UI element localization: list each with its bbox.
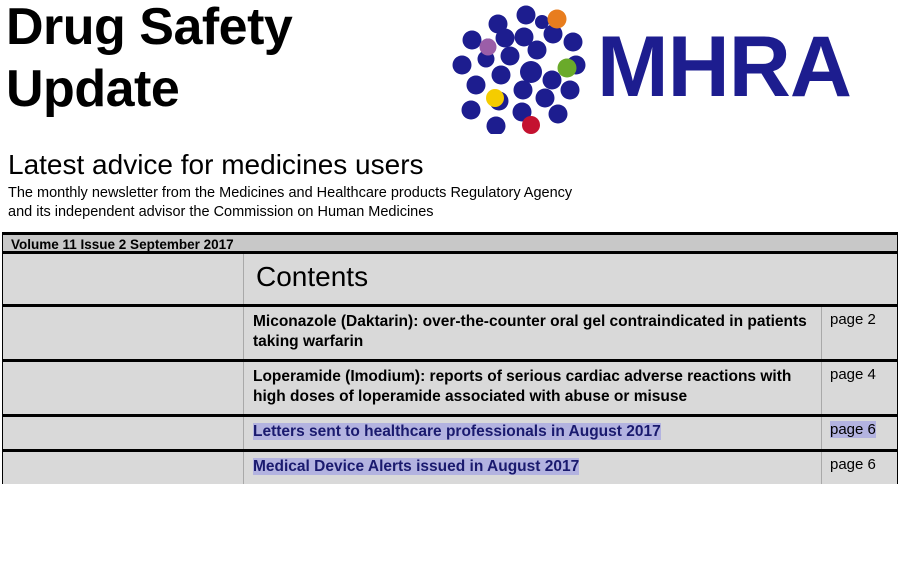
row-page-cell: page 6 <box>821 452 897 484</box>
row-left-spacer <box>3 452 244 484</box>
row-page-cell: page 4 <box>821 362 897 414</box>
masthead: Drug Safety Update Latest advice for med… <box>0 0 900 232</box>
volume-issue-label: Volume 11 Issue 2 September 2017 <box>11 236 234 253</box>
page-number-label: page 4 <box>830 366 876 383</box>
mhra-logo-dot-cluster-icon <box>452 2 597 134</box>
page-number-label: page 6 <box>830 456 876 473</box>
page-number-label: page 2 <box>830 311 876 328</box>
contents-entry-title[interactable]: Loperamide (Imodium): reports of serious… <box>253 367 813 407</box>
masthead-subtitle-line-2: and its independent advisor the Commissi… <box>8 203 708 222</box>
volume-issue-bar: Volume 11 Issue 2 September 2017 <box>2 232 898 254</box>
contents-header-right-cell <box>821 254 897 304</box>
contents-table: Contents Miconazole (Daktarin): over-the… <box>2 254 898 484</box>
row-title-cell[interactable]: Letters sent to healthcare professionals… <box>244 417 821 449</box>
table-row[interactable]: Loperamide (Imodium): reports of serious… <box>3 362 897 417</box>
row-page-cell: page 2 <box>821 307 897 359</box>
row-title-cell[interactable]: Loperamide (Imodium): reports of serious… <box>244 362 821 414</box>
logo-accent-dot-orange <box>548 10 567 29</box>
page-title-line-2: Update <box>6 58 436 120</box>
page-title-line-1: Drug Safety <box>6 0 436 58</box>
row-page-cell: page 6 <box>821 417 897 449</box>
contents-header-left-cell <box>3 254 244 304</box>
contents-heading: Contents <box>256 256 813 298</box>
table-row[interactable]: Miconazole (Daktarin): over-the-counter … <box>3 307 897 362</box>
row-title-cell[interactable]: Medical Device Alerts issued in August 2… <box>244 452 821 484</box>
row-title-cell[interactable]: Miconazole (Daktarin): over-the-counter … <box>244 307 821 359</box>
table-row[interactable]: Medical Device Alerts issued in August 2… <box>3 452 897 484</box>
contents-entry-title-text[interactable]: Letters sent to healthcare professionals… <box>253 423 661 440</box>
row-left-spacer <box>3 362 244 414</box>
row-left-spacer <box>3 417 244 449</box>
logo-accent-dot-purple <box>480 39 497 56</box>
logo-accent-dot-yellow <box>486 89 504 107</box>
contents-header-mid-cell: Contents <box>244 254 821 304</box>
contents-entry-title-text[interactable]: Medical Device Alerts issued in August 2… <box>253 458 579 475</box>
mhra-logo: MHRA <box>452 2 892 134</box>
mhra-wordmark: MHRA <box>597 12 851 122</box>
contents-entry-title[interactable]: Miconazole (Daktarin): over-the-counter … <box>253 312 813 352</box>
logo-accent-dot-green <box>558 59 577 78</box>
logo-accent-dot-red <box>522 116 540 134</box>
contents-header-row: Contents <box>3 254 897 307</box>
page-number-label: page 6 <box>830 421 876 438</box>
masthead-subtitle: The monthly newsletter from the Medicine… <box>8 184 708 222</box>
table-row[interactable]: Letters sent to healthcare professionals… <box>3 417 897 452</box>
page-title: Drug Safety Update <box>6 0 436 120</box>
strapline: Latest advice for medicines users <box>8 148 424 182</box>
row-left-spacer <box>3 307 244 359</box>
contents-entry-title[interactable]: Letters sent to healthcare professionals… <box>253 422 813 442</box>
masthead-subtitle-line-1: The monthly newsletter from the Medicine… <box>8 184 708 203</box>
contents-entry-title[interactable]: Medical Device Alerts issued in August 2… <box>253 457 813 477</box>
